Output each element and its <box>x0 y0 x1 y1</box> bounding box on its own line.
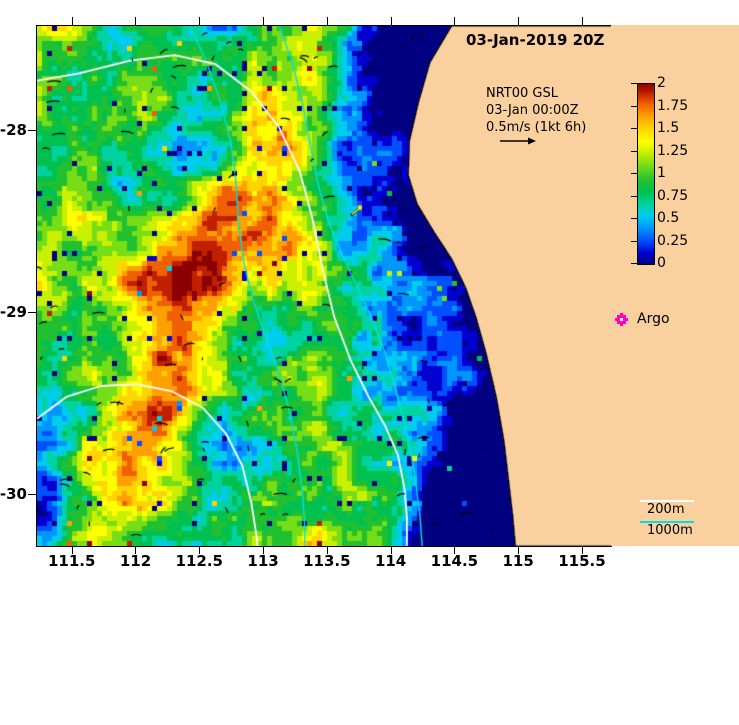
colorbar-tick-label: 1.75 <box>657 98 688 114</box>
y-axis-tick <box>28 130 36 131</box>
x-axis-tick-top <box>582 17 583 25</box>
colorbar-tick <box>631 196 637 197</box>
colorbar-tick-label: 1 <box>657 165 666 181</box>
colorbar-gradient <box>638 84 654 264</box>
colorbar-tick <box>631 106 637 107</box>
x-axis-label: 111.5 <box>48 552 95 570</box>
x-axis-label: 115.5 <box>558 552 605 570</box>
y-axis-label: -30 <box>0 485 27 503</box>
depth-legend-label: 1000m <box>647 523 693 538</box>
argo-legend: Argo <box>615 310 695 330</box>
colorbar-tick-label: 0.5 <box>657 210 679 226</box>
colorbar-tick <box>631 83 637 84</box>
argo-legend-label: Argo <box>637 311 670 327</box>
colorbar-tick <box>631 151 637 152</box>
argo-float-marker-icon <box>615 313 628 326</box>
colorbar-tick <box>631 128 637 129</box>
colorbar-tick-label: 0 <box>657 255 666 271</box>
colorbar-tick <box>631 173 637 174</box>
colorbar-tick <box>631 218 637 219</box>
colorbar-tick-label: 1.25 <box>657 143 688 159</box>
x-axis-tick-top <box>391 17 392 25</box>
y-axis-tick <box>28 312 36 313</box>
x-axis-tick-top <box>327 17 328 25</box>
figure-root: 03-Jan-2019 20Z NRT00 GSL 03-Jan 00:00Z … <box>0 0 739 592</box>
annotation-line-time: 03-Jan 00:00Z <box>486 102 586 119</box>
y-axis-tick <box>28 494 36 495</box>
x-axis-label: 114 <box>375 552 406 570</box>
colorbar-tick-label: 2 <box>657 75 666 91</box>
right-arrow-icon <box>500 136 536 146</box>
x-axis-tick-top <box>199 17 200 25</box>
colorbar-tick-label: 1.5 <box>657 120 679 136</box>
page-title: 03-Jan-2019 20Z <box>466 31 604 49</box>
x-axis-tick-top <box>263 17 264 25</box>
depth-legend-label: 200m <box>647 502 684 517</box>
y-axis-label: -29 <box>0 303 27 321</box>
x-axis-label: 113 <box>247 552 278 570</box>
x-axis-tick-top <box>135 17 136 25</box>
colorbar-tick-label: 0.75 <box>657 188 688 204</box>
depth-contour-legend: 200m1000m <box>640 500 720 542</box>
x-axis-label: 112 <box>120 552 151 570</box>
y-axis-label: -28 <box>0 121 27 139</box>
x-axis-tick-top <box>518 17 519 25</box>
x-axis-tick-top <box>72 17 73 25</box>
colorbar <box>637 83 655 265</box>
annotation-line-product: NRT00 GSL <box>486 85 586 102</box>
colorbar-tick <box>631 241 637 242</box>
top-margin-fill <box>611 0 739 25</box>
x-axis-tick-top <box>454 17 455 25</box>
x-axis-label: 112.5 <box>176 552 223 570</box>
colorbar-tick-label: 0.25 <box>657 233 688 249</box>
colorbar-tick <box>631 263 637 264</box>
x-axis-label: 114.5 <box>431 552 478 570</box>
current-vector-annotation: NRT00 GSL 03-Jan 00:00Z 0.5m/s (1kt 6h) <box>486 85 586 136</box>
x-axis-label: 115 <box>503 552 534 570</box>
x-axis-label: 113.5 <box>303 552 350 570</box>
annotation-line-scale: 0.5m/s (1kt 6h) <box>486 119 586 136</box>
